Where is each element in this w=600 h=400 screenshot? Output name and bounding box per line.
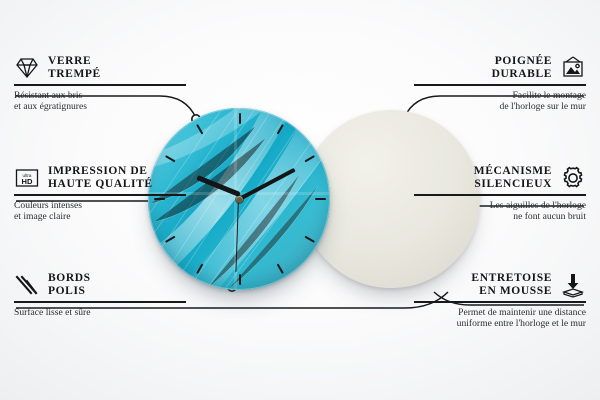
- hand-cap: [236, 196, 243, 203]
- ultra-hd-icon: ultra HD: [14, 165, 40, 191]
- foam-spacer-icon: [560, 272, 586, 298]
- feature-poignee-durable: POIGNÉE DURABLE Facilite le montage de l…: [414, 55, 586, 113]
- feature-title: ENTRETOISE EN MOUSSE: [471, 272, 552, 298]
- feature-title: POIGNÉE DURABLE: [492, 55, 552, 81]
- feature-title: MÉCANISME SILENCIEUX: [474, 165, 552, 191]
- svg-text:HD: HD: [22, 177, 33, 186]
- polished-edges-icon: [14, 272, 40, 298]
- picture-hanger-icon: [560, 55, 586, 81]
- feature-impression-haute-qualite: ultra HD IMPRESSION DE HAUTE QUALITÉ Cou…: [14, 165, 186, 223]
- feature-title: IMPRESSION DE HAUTE QUALITÉ: [48, 165, 153, 191]
- feature-description: Couleurs intenses et image claire: [14, 196, 186, 223]
- feature-description: Permet de maintenir une distance uniform…: [414, 303, 586, 330]
- infographic-stage: VERRE TREMPÉ Résistant aux bris et aux é…: [0, 0, 600, 400]
- feature-bords-polis: BORDS POLIS Surface lisse et sûre: [14, 272, 186, 318]
- feature-title: BORDS POLIS: [48, 272, 91, 298]
- feature-title: VERRE TREMPÉ: [48, 55, 101, 81]
- feature-entretoise-en-mousse: ENTRETOISE EN MOUSSE Permet de maintenir…: [414, 272, 586, 330]
- feature-mecanisme-silencieux: MÉCANISME SILENCIEUX Les aiguilles de l'…: [414, 165, 586, 223]
- gear-icon: [560, 165, 586, 191]
- diamond-icon: [14, 55, 40, 81]
- feature-description: Les aiguilles de l'horloge ne font aucun…: [414, 196, 586, 223]
- feature-description: Surface lisse et sûre: [14, 303, 186, 319]
- feature-description: Facilite le montage de l'horloge sur le …: [414, 86, 586, 113]
- feature-verre-trempe: VERRE TREMPÉ Résistant aux bris et aux é…: [14, 55, 186, 113]
- feature-description: Résistant aux bris et aux égratignures: [14, 86, 186, 113]
